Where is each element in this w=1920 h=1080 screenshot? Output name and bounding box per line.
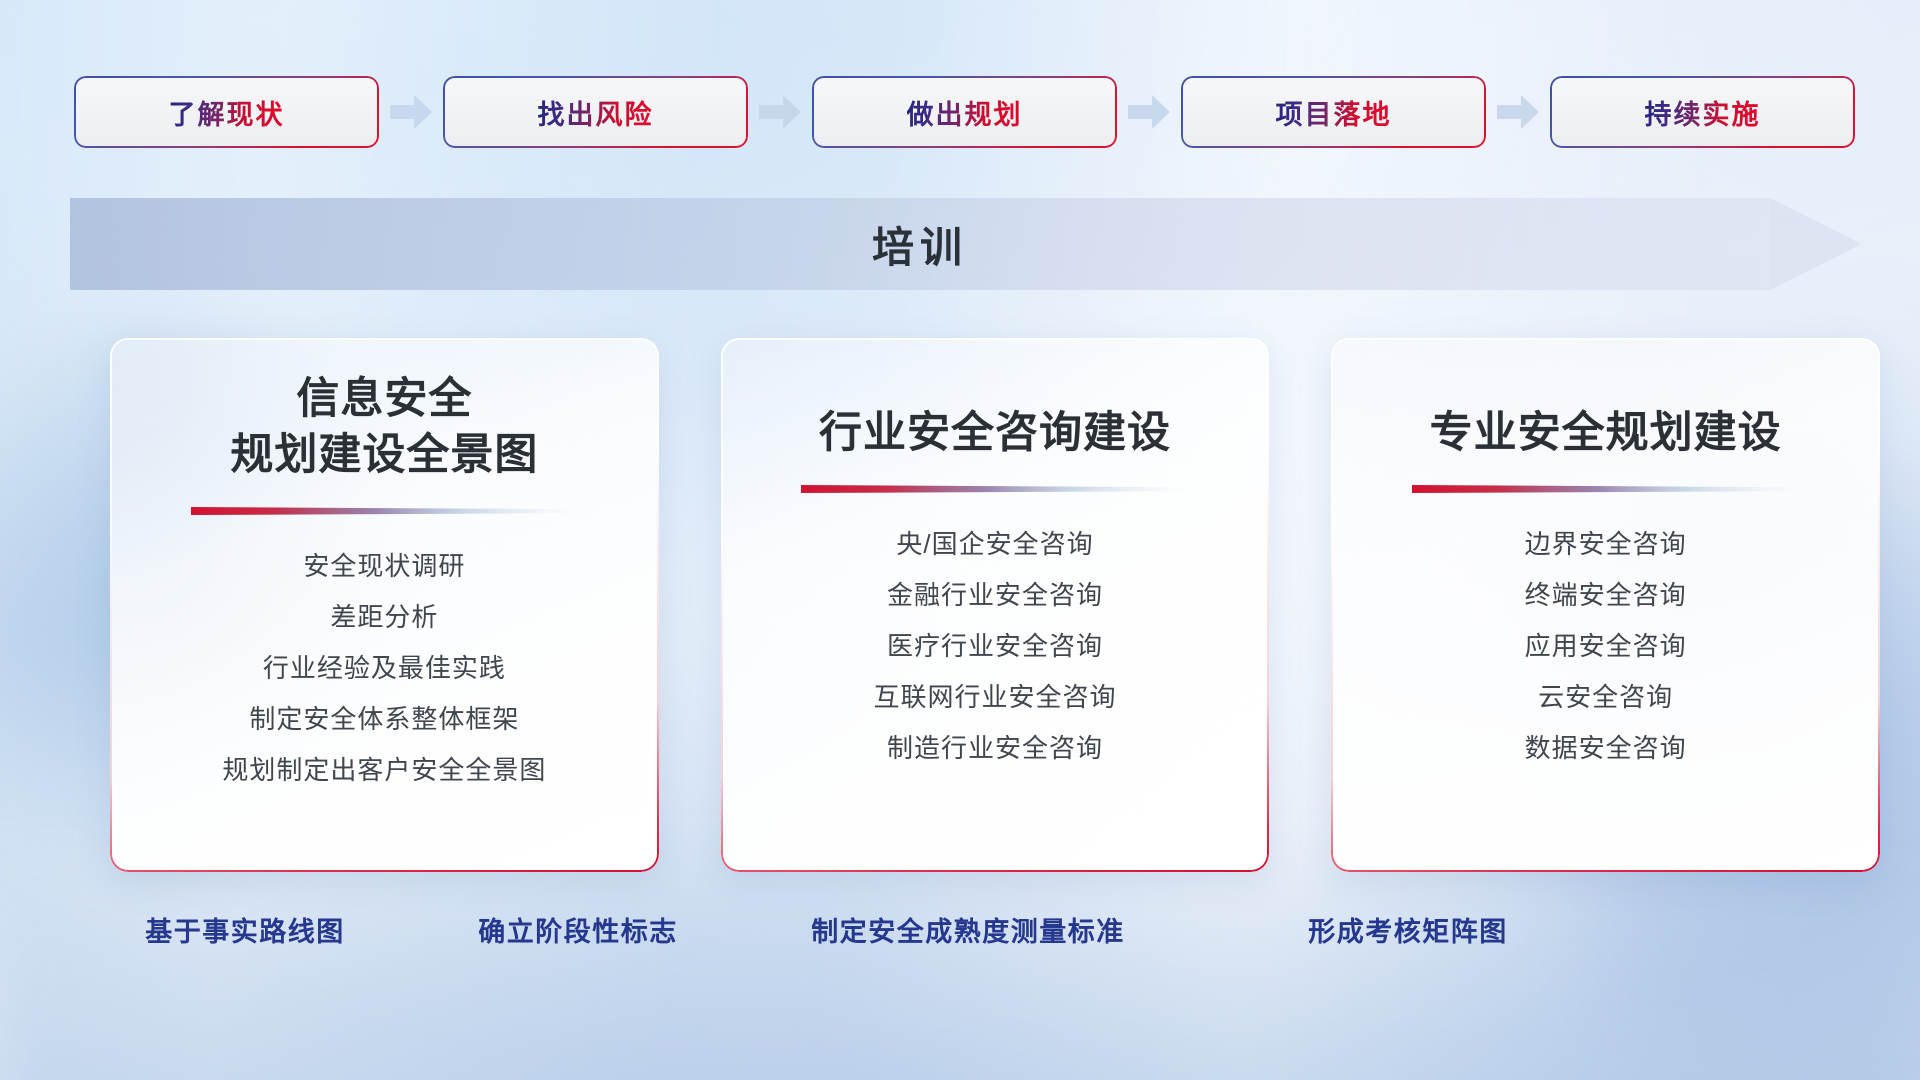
process-steps: 了解现状找出风险做出规划项目落地持续实施 xyxy=(74,76,1854,148)
card-title: 信息安全 规划建设全景图 xyxy=(230,372,538,484)
step-label: 持续实施 xyxy=(1645,93,1761,132)
step-box-1[interactable]: 了解现状 xyxy=(74,76,379,148)
card-list-item[interactable]: 央/国企安全咨询 xyxy=(896,524,1093,565)
step-label: 找出风险 xyxy=(538,93,654,132)
card-divider xyxy=(191,506,578,516)
footer-label-4: 形成考核矩阵图 xyxy=(1308,910,1508,949)
card-list-item[interactable]: 规划制定出客户安全全景图 xyxy=(222,750,546,791)
arrow-right-icon xyxy=(379,76,443,148)
training-banner: 培训 xyxy=(70,198,1860,290)
card-2[interactable]: 行业安全咨询建设央/国企安全咨询金融行业安全咨询医疗行业安全咨询互联网行业安全咨… xyxy=(721,338,1270,872)
footer-label-2: 确立阶段性标志 xyxy=(478,910,678,949)
card-3[interactable]: 专业安全规划建设边界安全咨询终端安全咨询应用安全咨询云安全咨询数据安全咨询 xyxy=(1331,338,1880,872)
footer-label-3: 制定安全成熟度测量标准 xyxy=(811,910,1125,949)
card-item-list: 央/国企安全咨询金融行业安全咨询医疗行业安全咨询互联网行业安全咨询制造行业安全咨… xyxy=(874,524,1117,769)
card-list-item[interactable]: 应用安全咨询 xyxy=(1525,626,1687,667)
card-divider xyxy=(1412,484,1799,494)
step-box-2[interactable]: 找出风险 xyxy=(443,76,748,148)
card-title: 行业安全咨询建设 xyxy=(819,372,1171,462)
card-list-item[interactable]: 医疗行业安全咨询 xyxy=(887,626,1103,667)
card-list-item[interactable]: 差距分析 xyxy=(330,597,438,638)
card-list-item[interactable]: 互联网行业安全咨询 xyxy=(874,677,1117,718)
card-item-list: 边界安全咨询终端安全咨询应用安全咨询云安全咨询数据安全咨询 xyxy=(1525,524,1687,769)
training-banner-arrowhead xyxy=(1770,198,1862,290)
card-item-list: 安全现状调研差距分析行业经验及最佳实践制定安全体系整体框架规划制定出客户安全全景… xyxy=(222,546,546,791)
card-list-item[interactable]: 安全现状调研 xyxy=(303,546,465,587)
step-label: 了解现状 xyxy=(169,93,285,132)
step-box-5[interactable]: 持续实施 xyxy=(1550,76,1855,148)
arrow-right-icon xyxy=(748,76,812,148)
footer-label-1: 基于事实路线图 xyxy=(145,910,345,949)
card-list-item[interactable]: 制造行业安全咨询 xyxy=(887,728,1103,769)
step-box-3[interactable]: 做出规划 xyxy=(812,76,1117,148)
card-list-item[interactable]: 行业经验及最佳实践 xyxy=(263,648,506,689)
card-list-item[interactable]: 数据安全咨询 xyxy=(1525,728,1687,769)
card-list-item[interactable]: 云安全咨询 xyxy=(1538,677,1673,718)
card-title: 专业安全规划建设 xyxy=(1430,372,1782,462)
footer-label-group: 基于事实路线图确立阶段性标志制定安全成熟度测量标准形成考核矩阵图 xyxy=(0,910,1920,964)
step-box-4[interactable]: 项目落地 xyxy=(1181,76,1486,148)
arrow-right-icon xyxy=(1486,76,1550,148)
card-group: 信息安全 规划建设全景图安全现状调研差距分析行业经验及最佳实践制定安全体系整体框… xyxy=(110,338,1880,872)
training-banner-title: 培训 xyxy=(70,198,1770,290)
card-list-item[interactable]: 金融行业安全咨询 xyxy=(887,575,1103,616)
card-1[interactable]: 信息安全 规划建设全景图安全现状调研差距分析行业经验及最佳实践制定安全体系整体框… xyxy=(110,338,659,872)
card-list-item[interactable]: 终端安全咨询 xyxy=(1525,575,1687,616)
arrow-right-icon xyxy=(1117,76,1181,148)
card-list-item[interactable]: 制定安全体系整体框架 xyxy=(249,699,519,740)
card-divider xyxy=(801,484,1188,494)
step-label: 做出规划 xyxy=(907,93,1023,132)
step-label: 项目落地 xyxy=(1276,93,1392,132)
card-list-item[interactable]: 边界安全咨询 xyxy=(1525,524,1687,565)
